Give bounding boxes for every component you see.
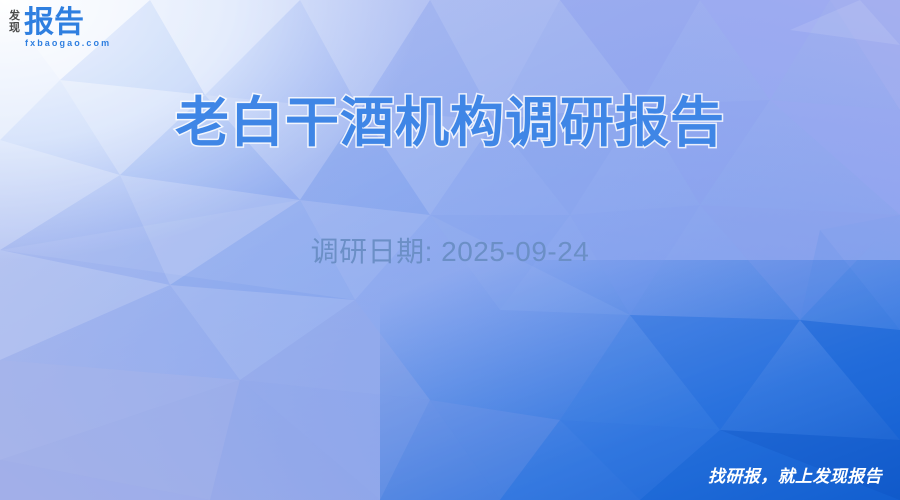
logo-url: fxbaogao.com	[25, 38, 111, 49]
cover-subtitle-survey-date: 调研日期: 2025-09-24	[0, 233, 900, 271]
logo-wordmark: 报告	[24, 8, 111, 37]
cover-title: 老白干酒机构调研报告	[0, 92, 900, 154]
site-logo[interactable]: 发 现 报告 fxbaogao.com	[9, 8, 111, 49]
logo-mark-bottom: 现	[9, 22, 20, 34]
logo-mark-top: 发	[9, 10, 20, 22]
brand-tagline: 找研报，就上发现报告	[708, 466, 882, 488]
report-cover: 发 现 报告 fxbaogao.com 老白干酒机构调研报告 调研日期: 202…	[0, 0, 900, 500]
logo-mark-characters: 发 现	[9, 8, 20, 34]
logo-text-block: 报告 fxbaogao.com	[24, 8, 111, 49]
